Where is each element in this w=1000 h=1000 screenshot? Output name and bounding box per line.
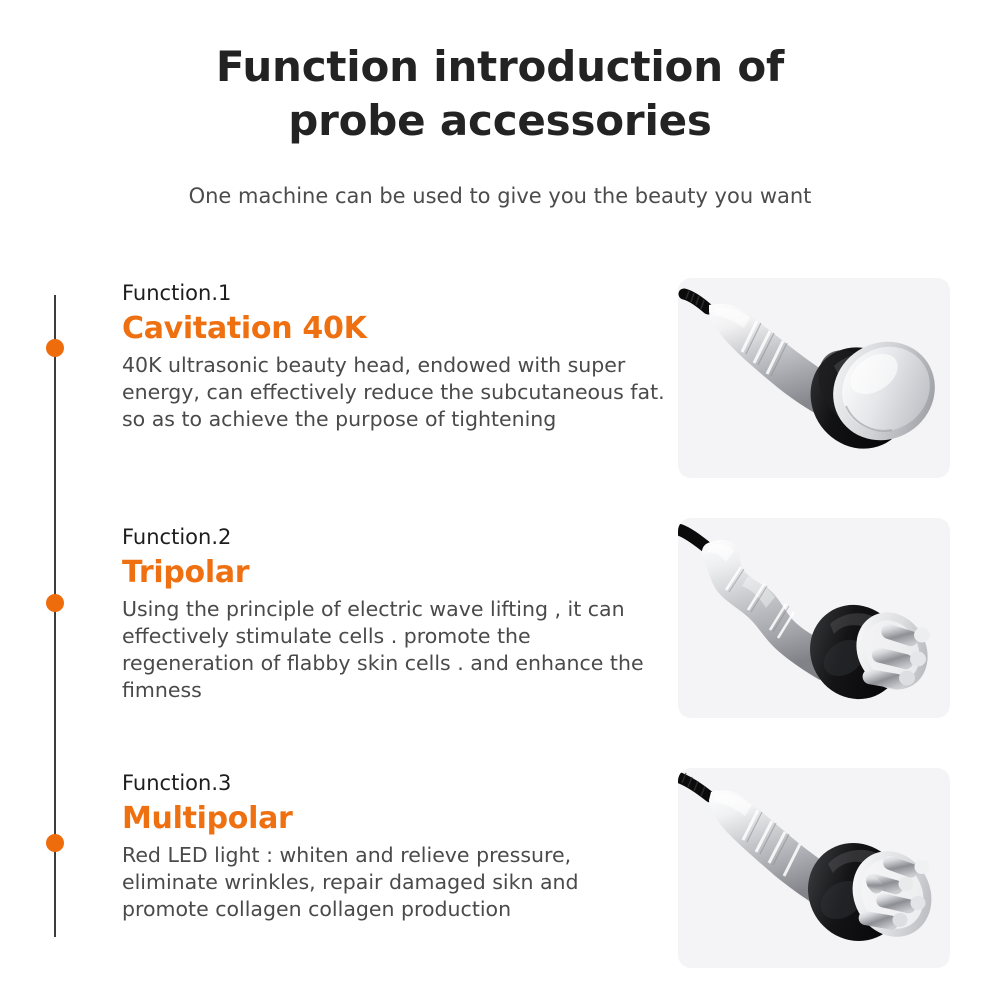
- page-title-line-2: probe accessories: [288, 96, 711, 145]
- function-2-title: Tripolar: [122, 553, 667, 593]
- product-image-panel-1: [678, 278, 950, 478]
- product-image-panel-3: [678, 768, 950, 968]
- function-3-label: Function.3: [122, 768, 667, 798]
- timeline-dot-2: [46, 594, 64, 612]
- function-1-title: Cavitation 40K: [122, 309, 667, 349]
- probe-cable: [680, 530, 705, 546]
- page-title-line-2-highlight: probe accessories: [282, 94, 717, 148]
- tripolar-rf-probe-image: [678, 518, 950, 718]
- function-1-description: 40K ultrasonic beauty head, endowed with…: [122, 352, 667, 433]
- function-2-label: Function.2: [122, 522, 667, 552]
- infographic-page: Function introduction of probe accessori…: [0, 0, 1000, 1000]
- timeline-dot-1: [46, 339, 64, 357]
- page-subtitle: One machine can be used to give you the …: [0, 182, 1000, 210]
- page-title-line-2-wrap: probe accessories: [0, 94, 1000, 148]
- function-1-text: Function.1 Cavitation 40K 40K ultrasonic…: [122, 278, 667, 433]
- cavitation-40k-probe-image: [678, 278, 950, 478]
- page-title-line-1: Function introduction of: [0, 40, 1000, 94]
- multipolar-rf-probe-image: [678, 768, 950, 968]
- header: Function introduction of probe accessori…: [0, 40, 1000, 210]
- function-2-description: Using the principle of electric wave lif…: [122, 596, 667, 704]
- function-1-label: Function.1: [122, 278, 667, 308]
- function-3-title: Multipolar: [122, 799, 667, 839]
- function-3-text: Function.3 Multipolar Red LED light : wh…: [122, 768, 667, 923]
- function-2-text: Function.2 Tripolar Using the principle …: [122, 522, 667, 704]
- timeline-dot-3: [46, 834, 64, 852]
- function-3-description: Red LED light : whiten and relieve press…: [122, 842, 667, 923]
- product-image-panel-2: [678, 518, 950, 718]
